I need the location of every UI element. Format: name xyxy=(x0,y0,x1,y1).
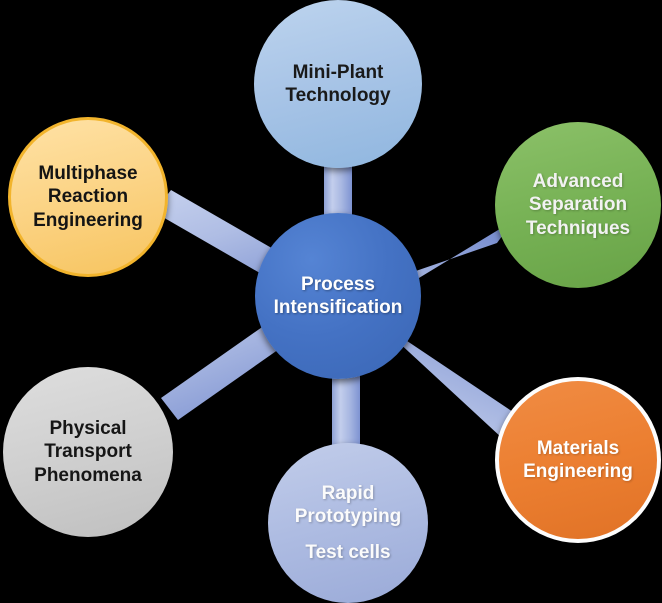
node-label-line-2: Technology xyxy=(254,84,422,107)
node-label-line-1: Materials xyxy=(499,437,657,460)
node-label-line-3: Techniques xyxy=(495,217,661,240)
node-physical-transport-phenomena[interactable]: Physical Transport Phenomena xyxy=(3,367,173,537)
node-label-line-2: Separation xyxy=(495,193,661,216)
node-label-line-1: Multiphase xyxy=(11,162,165,185)
node-label-line-2: Reaction xyxy=(11,185,165,208)
hub-label-line-1: Process xyxy=(255,273,421,296)
node-advanced-separation-techniques[interactable]: Advanced Separation Techniques xyxy=(495,122,661,288)
node-label-line-3: Test cells xyxy=(268,541,428,564)
node-label-line-1: Advanced xyxy=(495,170,661,193)
process-intensification-diagram: Mini-Plant Technology Multiphase Reactio… xyxy=(0,0,662,600)
node-label-line-2: Transport xyxy=(3,440,173,463)
node-label-line-2: Prototyping xyxy=(268,505,428,528)
hub-label-line-2: Intensification xyxy=(255,296,421,319)
node-label-line-3: Engineering xyxy=(11,209,165,232)
node-multiphase-reaction-engineering[interactable]: Multiphase Reaction Engineering xyxy=(8,117,168,277)
node-label-line-1: Mini-Plant xyxy=(254,61,422,84)
node-label-line-3: Phenomena xyxy=(3,464,173,487)
node-label-line-1: Rapid xyxy=(268,482,428,505)
node-label-line-2: Engineering xyxy=(499,460,657,483)
node-rapid-prototyping-test-cells[interactable]: Rapid Prototyping Test cells xyxy=(268,443,428,603)
node-process-intensification-hub[interactable]: Process Intensification xyxy=(255,213,421,379)
node-materials-engineering[interactable]: Materials Engineering xyxy=(495,377,661,543)
node-label-line-1: Physical xyxy=(3,417,173,440)
node-mini-plant-technology[interactable]: Mini-Plant Technology xyxy=(254,0,422,168)
